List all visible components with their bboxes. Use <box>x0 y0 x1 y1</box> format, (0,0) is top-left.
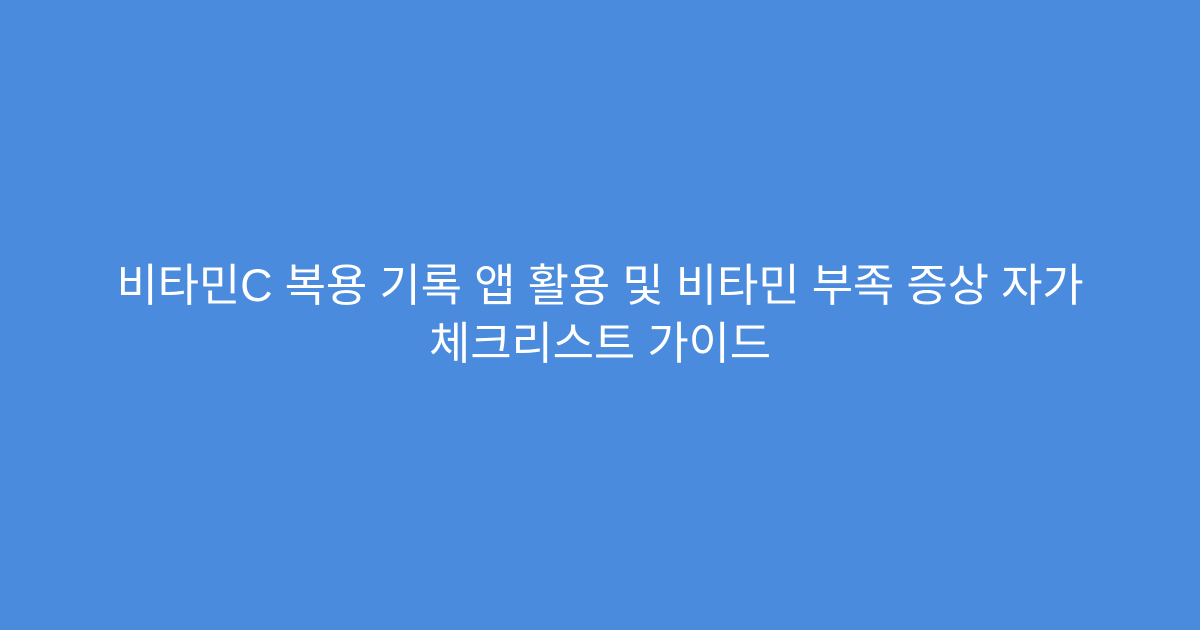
share-card: 비타민C 복용 기록 앱 활용 및 비타민 부족 증상 자가 체크리스트 가이드 <box>0 0 1200 630</box>
page-title: 비타민C 복용 기록 앱 활용 및 비타민 부족 증상 자가 체크리스트 가이드 <box>80 257 1120 373</box>
share-card-content: 비타민C 복용 기록 앱 활용 및 비타민 부족 증상 자가 체크리스트 가이드 <box>80 257 1120 373</box>
